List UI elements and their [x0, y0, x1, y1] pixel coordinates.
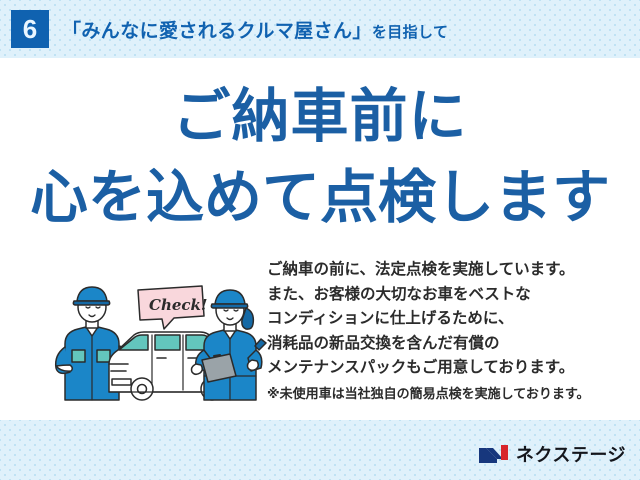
body-line: また、お客様の大切なお車をベストな — [267, 283, 627, 308]
header-bar: 6 「みんなに愛されるクルマ屋さん」を目指して — [0, 0, 640, 58]
brand-logo: ネクステージ — [479, 441, 626, 467]
body-line: コンディションに仕上げるために、 — [267, 307, 627, 332]
body-line: 消耗品の新品交換を含んだ有償の — [267, 332, 627, 357]
body-copy: ご納車の前に、法定点検を実施しています。 また、お客様の大切なお車をベストな コ… — [267, 258, 627, 405]
mechanics-illustration: Check! — [52, 272, 267, 402]
headline-line-2: 心を込めて点検します — [0, 168, 640, 226]
check-bubble-label: Check! — [149, 296, 208, 314]
slide-root: 6 「みんなに愛されるクルマ屋さん」を目指して ご納車前に 心を込めて点検します… — [0, 0, 640, 480]
body-line: メンテナンスパックもご用意しております。 — [267, 356, 627, 381]
mechanics-illustration-svg: Check! — [52, 272, 267, 402]
section-number-badge: 6 — [11, 10, 49, 48]
body-footnote: ※未使用車は当社独自の簡易点検を実施しております。 — [267, 383, 627, 405]
brand-logo-text: ネクステージ — [516, 441, 626, 467]
nextage-n-mark-icon — [479, 444, 509, 464]
body-line: ご納車の前に、法定点検を実施しています。 — [267, 258, 627, 283]
header-title-rest: を目指して — [372, 24, 449, 41]
header-title-quoted: 「みんなに愛されるクルマ屋さん」 — [62, 21, 372, 42]
header-title: 「みんなに愛されるクルマ屋さん」を目指して — [62, 16, 448, 43]
headline-line-1: ご納車前に — [0, 87, 640, 145]
